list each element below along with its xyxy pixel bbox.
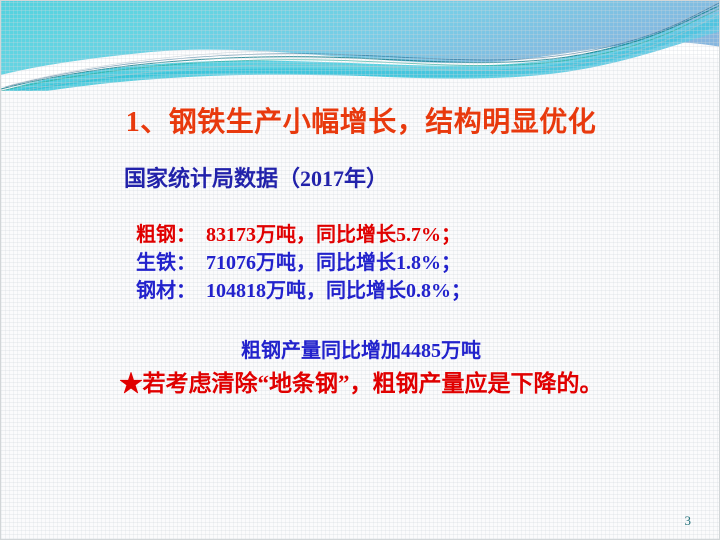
presentation-slide: 1、钢铁生产小幅增长，结构明显优化 国家统计局数据（2017年） 粗钢： 831… (0, 0, 720, 540)
statistics-list: 粗钢： 83173万吨，同比增长5.7%； 生铁： 71076万吨，同比增长1.… (136, 221, 471, 305)
list-item: 粗钢： 83173万吨，同比增长5.7%； (136, 221, 471, 249)
list-item: 钢材： 104818万吨，同比增长0.8%； (136, 277, 471, 305)
conclusion-line: ★若考虑清除“地条钢”，粗钢产量应是下降的。 (1, 364, 720, 398)
slide-text-layer: 1、钢铁生产小幅增长，结构明显优化 国家统计局数据（2017年） 粗钢： 831… (1, 1, 719, 539)
page-number: 3 (685, 513, 692, 529)
data-source-label: 国家统计局数据（2017年） (124, 161, 388, 193)
summary-line: 粗钢产量同比增加4485万吨 (1, 334, 720, 363)
list-item: 生铁： 71076万吨，同比增长1.8%； (136, 249, 471, 277)
slide-title: 1、钢铁生产小幅增长，结构明显优化 (1, 100, 720, 140)
